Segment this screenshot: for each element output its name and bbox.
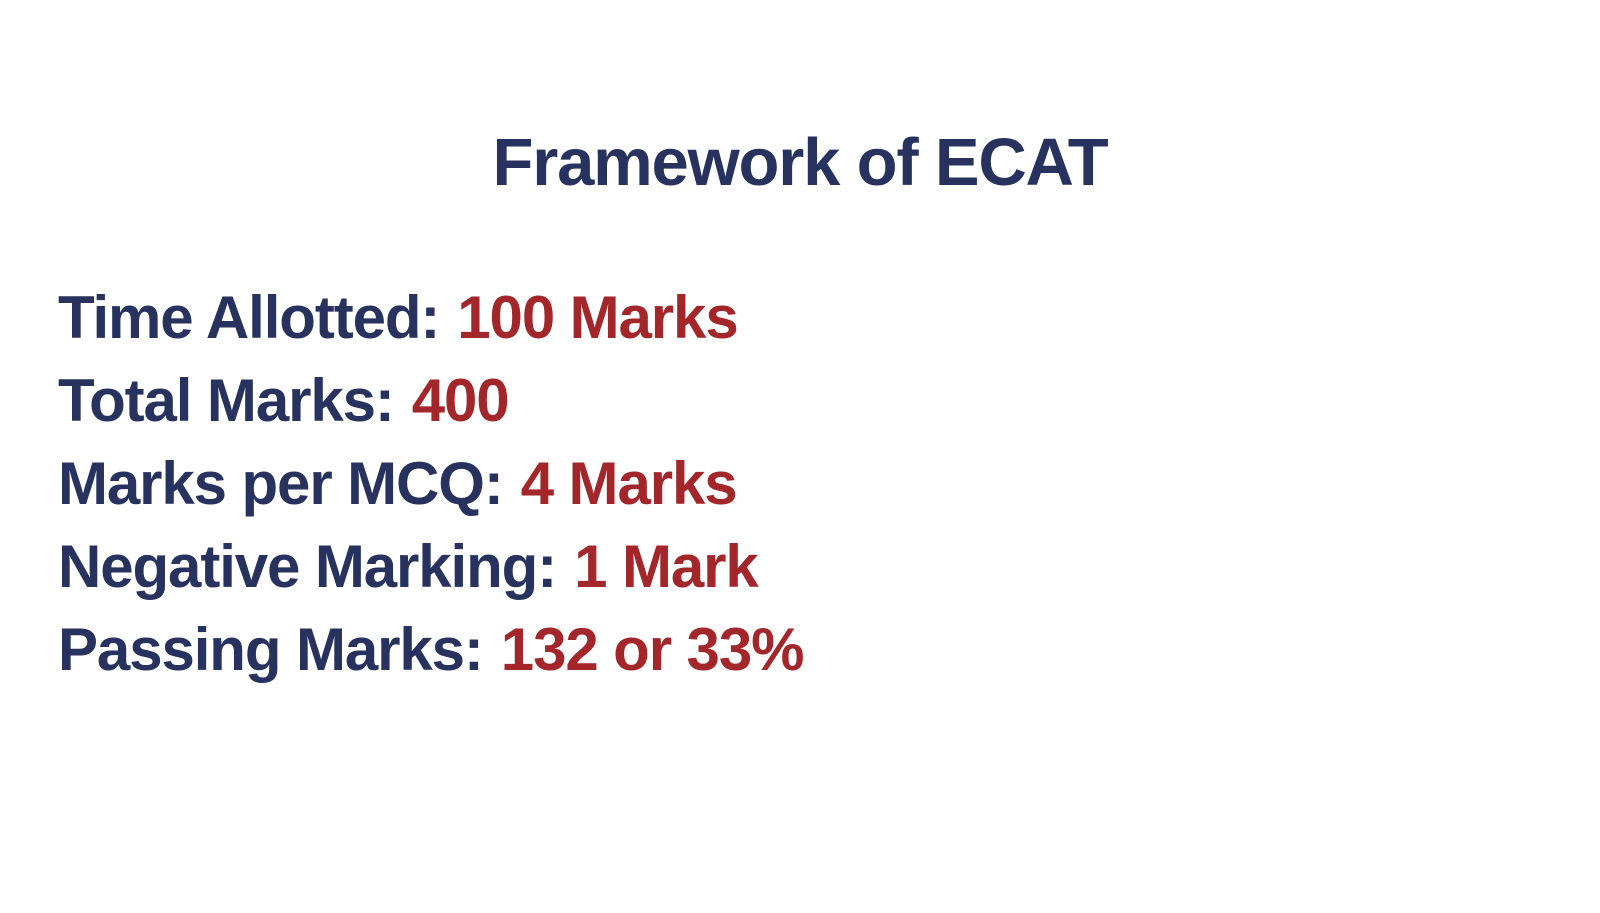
fact-label-passing-marks: Passing Marks:	[58, 616, 483, 683]
fact-value-negative-marking: 1 Mark	[574, 533, 758, 600]
fact-value-total-marks: 400	[412, 367, 509, 434]
fact-value-passing-marks: 132 or 33%	[501, 616, 804, 683]
fact-value-time-allotted: 100 Marks	[457, 284, 737, 351]
fact-label-negative-marking: Negative Marking:	[58, 533, 556, 600]
fact-label-marks-per-mcq: Marks per MCQ:	[58, 450, 503, 517]
list-item: Passing Marks:132 or 33%	[58, 608, 1538, 691]
list-item: Time Allotted:100 Marks	[58, 276, 1538, 359]
facts-list: Time Allotted:100 Marks Total Marks:400 …	[58, 276, 1538, 691]
fact-value-marks-per-mcq: 4 Marks	[521, 450, 737, 517]
list-item: Total Marks:400	[58, 359, 1538, 442]
fact-label-time-allotted: Time Allotted:	[58, 284, 439, 351]
fact-label-total-marks: Total Marks:	[58, 367, 394, 434]
list-item: Negative Marking:1 Mark	[58, 525, 1538, 608]
page-title: Framework of ECAT	[0, 129, 1600, 196]
slide-canvas: Framework of ECAT Time Allotted:100 Mark…	[0, 0, 1600, 913]
list-item: Marks per MCQ:4 Marks	[58, 442, 1538, 525]
